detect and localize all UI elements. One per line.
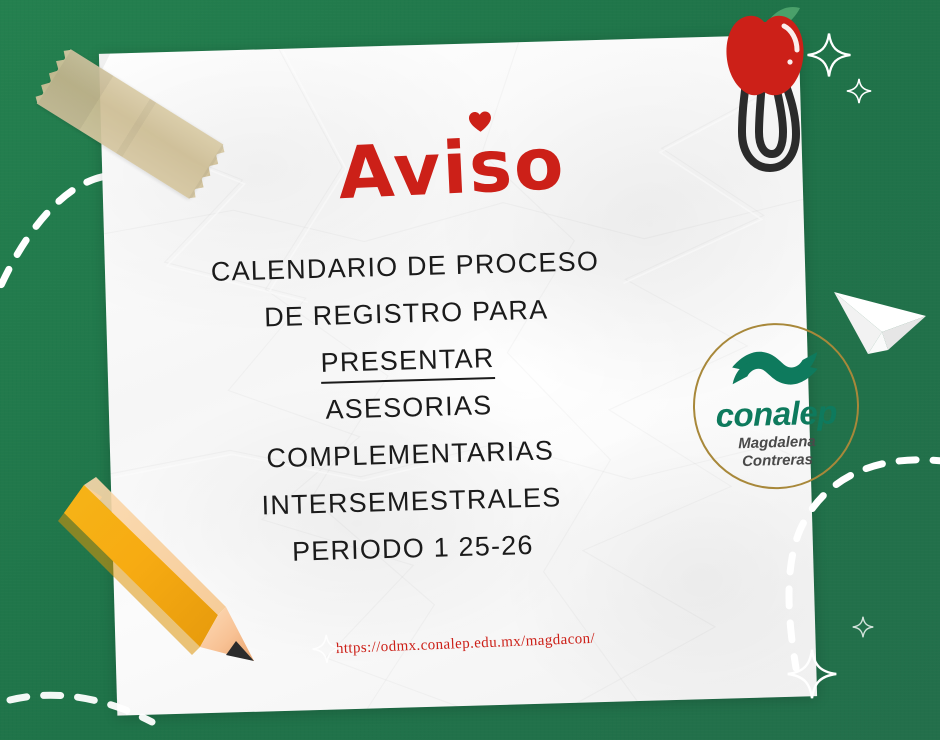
logo-campus: Magdalena Contreras [738, 433, 817, 471]
body-line-text: ASESORIAS [325, 390, 493, 425]
body-line-text: CALENDARIO DE PROCESO [210, 246, 599, 287]
pencil-icon [40, 455, 270, 685]
body-line-text: PERIODO 1 25-26 [292, 530, 534, 567]
logo-campus-line1: Magdalena [738, 433, 816, 453]
body-line-text: COMPLEMENTARIAS [266, 435, 554, 473]
paper-plane-icon [828, 272, 932, 368]
page-title: Aviso [337, 121, 568, 215]
poster-canvas: Aviso CALENDARIO DE PROCESO DE REGISTRO … [0, 0, 940, 740]
body-line-text: PRESENTAR [320, 343, 495, 384]
logo-campus-line2: Contreras [739, 451, 817, 471]
body-line-text: INTERSEMESTRALES [261, 482, 561, 520]
logo-wordmark: conalep [715, 395, 837, 431]
pencil-body [64, 485, 218, 647]
body-line-text: DE REGISTRO PARA [264, 294, 549, 332]
apple-paperclip-group [688, 0, 838, 182]
conalep-swirl-icon [726, 341, 823, 396]
apple-icon [726, 16, 803, 96]
page-title-text: Aviso [337, 121, 568, 215]
